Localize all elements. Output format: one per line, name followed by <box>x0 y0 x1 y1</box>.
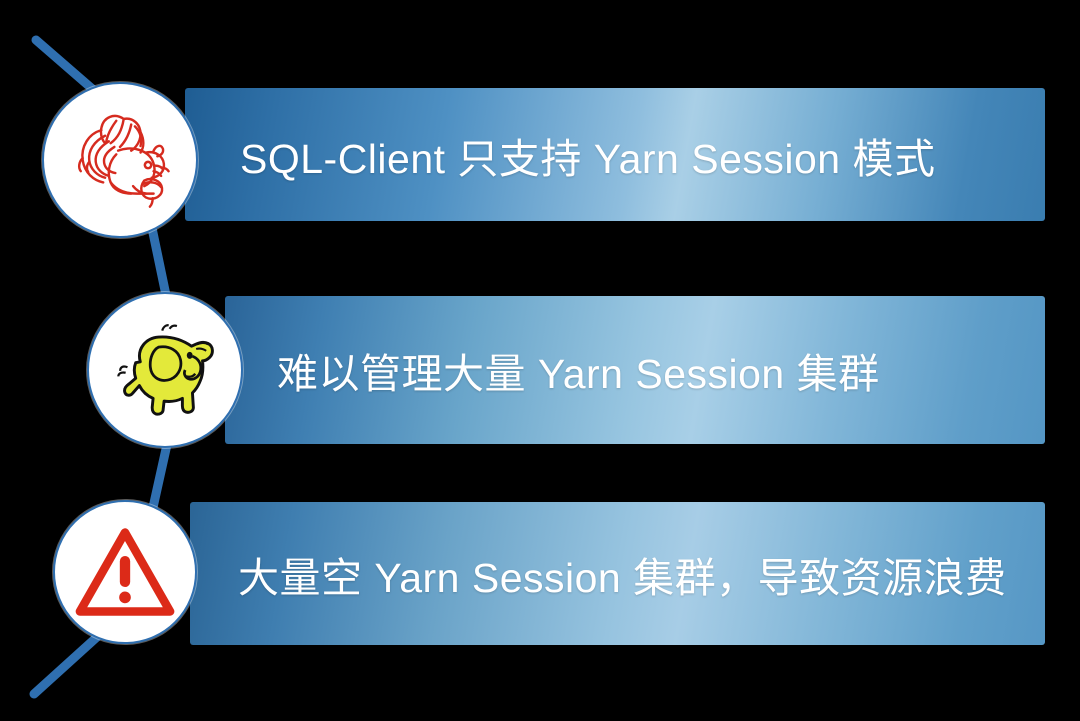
flink-squirrel-icon <box>64 104 176 216</box>
banner-row-1: SQL-Client 只支持 Yarn Session 模式 <box>185 88 1045 221</box>
connector-circle2-to-circle3 <box>152 440 168 512</box>
slide-canvas: SQL-Client 只支持 Yarn Session 模式 难以管理大量 Ya… <box>0 0 1080 721</box>
banner-label-3: 大量空 Yarn Session 集群，导致资源浪费 <box>238 544 1007 604</box>
banner-label-2: 难以管理大量 Yarn Session 集群 <box>277 340 880 400</box>
banner-row-2: 难以管理大量 Yarn Session 集群 <box>225 296 1045 444</box>
banner-row-3: 大量空 Yarn Session 集群，导致资源浪费 <box>190 502 1045 645</box>
hadoop-elephant-icon <box>105 316 225 424</box>
icon-badge-3 <box>53 500 197 644</box>
connector-circle1-to-circle2 <box>152 228 167 300</box>
banner-label-1: SQL-Client 只支持 Yarn Session 模式 <box>240 125 936 185</box>
warning-triangle-icon <box>73 525 177 619</box>
icon-badge-2 <box>87 292 243 448</box>
icon-badge-1 <box>42 82 198 238</box>
